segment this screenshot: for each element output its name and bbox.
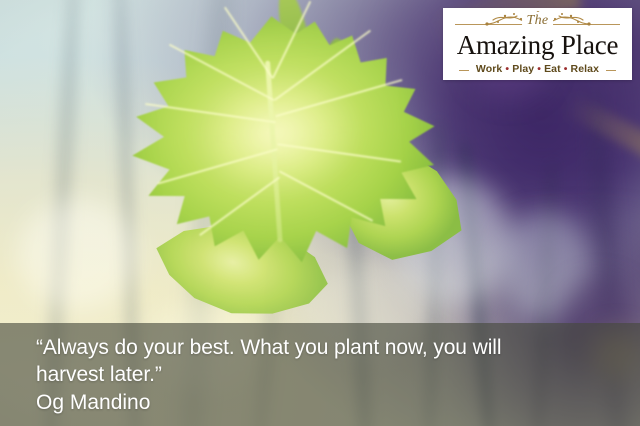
logo-flourish-row: The — [449, 11, 626, 30]
tagline-item-work: Work — [476, 63, 502, 75]
tagline-separator: • — [505, 63, 509, 75]
logo-tagline: Work • Play • Eat • Relax — [469, 62, 606, 76]
quote-overlay-band: “Always do your best. What you plant now… — [0, 323, 640, 426]
quote-author: Og Mandino — [36, 389, 612, 416]
logo-tagline-row: Work • Play • Eat • Relax — [449, 62, 626, 76]
quote-image-card: The Amazing Place Work • Play • Eat • Re… — [0, 0, 640, 426]
logo-brand-name: Amazing Place — [457, 30, 619, 61]
tagline-item-eat: Eat — [544, 63, 561, 75]
quote-text-line-2: harvest later.” — [36, 361, 612, 388]
tagline-item-relax: Relax — [571, 63, 600, 75]
tagline-separator: • — [537, 63, 541, 75]
quote-text-line-1: “Always do your best. What you plant now… — [36, 334, 612, 361]
tagline-item-play: Play — [512, 63, 534, 75]
amazing-place-logo[interactable]: The Amazing Place Work • Play • Eat • Re… — [443, 8, 632, 80]
tagline-separator: • — [564, 63, 568, 75]
logo-the-script: The — [522, 12, 554, 29]
